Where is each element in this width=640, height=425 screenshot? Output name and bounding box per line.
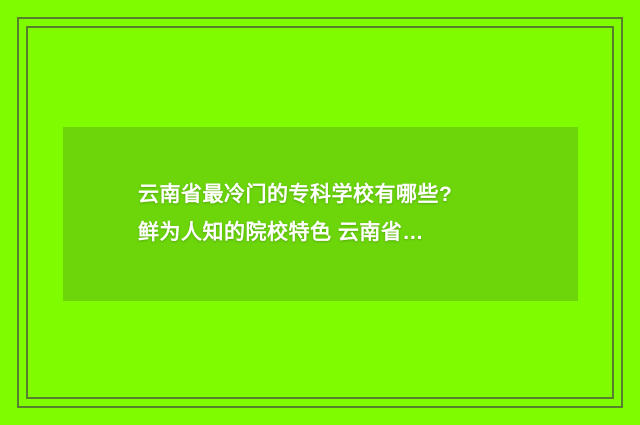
caption-line-2: 鲜为人知的院校特色 云南省… xyxy=(138,214,568,252)
image-canvas: 云南省最冷门的专科学校有哪些? 鲜为人知的院校特色 云南省… xyxy=(0,0,640,425)
caption-text-block: 云南省最冷门的专科学校有哪些? 鲜为人知的院校特色 云南省… xyxy=(138,176,568,252)
caption-line-1: 云南省最冷门的专科学校有哪些? xyxy=(138,176,568,214)
